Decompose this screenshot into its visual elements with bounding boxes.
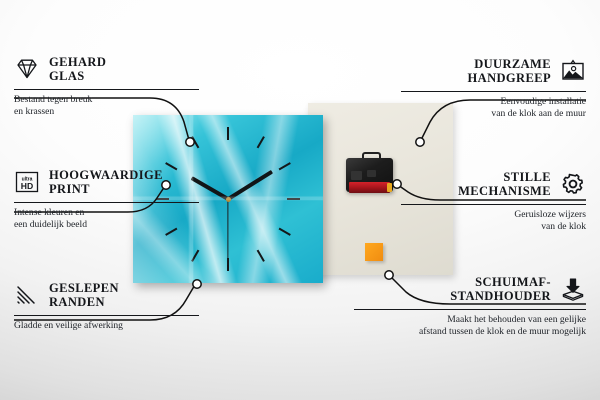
feature-divider (401, 204, 586, 205)
clock-tick (279, 162, 291, 170)
feature-header: STILLE MECHANISME (401, 167, 586, 201)
feature-description: Gladde en veilige afwerking (14, 320, 199, 332)
mechanism-detail (367, 170, 376, 177)
svg-text:HD: HD (21, 181, 33, 191)
feature-description: Eenvoudige installatie van de klok aan d… (401, 96, 586, 119)
clock-tick (279, 228, 291, 236)
clock-center-cap (226, 197, 231, 202)
clock-minute-hand (227, 170, 273, 201)
feature-geslepen-randen: GESLEPEN RANDEN Gladde en veilige afwerk… (14, 278, 199, 332)
feature-description: Intense kleuren en een duidelijk beeld (14, 207, 199, 230)
feature-description: Maakt het behouden van een gelijke afsta… (354, 314, 586, 337)
feature-divider (354, 309, 586, 310)
clock-tick (257, 136, 265, 148)
feature-divider (401, 91, 586, 92)
gear-icon (560, 171, 586, 197)
feature-header: SCHUIMAF- STANDHOUDER (354, 272, 586, 306)
ultra-hd-icon: ultra HD (14, 169, 40, 195)
product-infographic: GEHARD GLAS Bestand tegen breuk en krass… (0, 0, 600, 400)
mechanism-body (346, 158, 393, 192)
feature-title: STILLE MECHANISME (458, 170, 551, 198)
clock-tick (191, 136, 199, 148)
mechanism-detail (351, 171, 362, 180)
feature-divider (14, 202, 199, 203)
clock-tick (191, 250, 199, 262)
beveled-edge-icon (14, 282, 40, 308)
feature-gehard-glas: GEHARD GLAS Bestand tegen breuk en krass… (14, 52, 199, 118)
feature-title: GEHARD GLAS (49, 55, 106, 83)
feature-title: GESLEPEN RANDEN (49, 281, 119, 309)
feature-header: GESLEPEN RANDEN (14, 278, 199, 312)
feature-duurzame-handgreep: DUURZAME HANDGREEP Eenvoudige installati… (401, 54, 586, 120)
press-down-icon (560, 276, 586, 302)
battery (349, 182, 390, 193)
feature-description: Bestand tegen breuk en krassen (14, 94, 199, 117)
feature-stille-mechanisme: STILLE MECHANISME Geruisloze wijzers van… (401, 167, 586, 233)
clock-tick (257, 250, 265, 262)
quartz-mechanism (346, 152, 393, 192)
clock-tick (287, 198, 300, 200)
feature-schuimaf-standhouder: SCHUIMAF- STANDHOUDER Maakt het behouden… (354, 272, 586, 338)
feature-title: SCHUIMAF- STANDHOUDER (450, 275, 551, 303)
clock-tick (227, 127, 229, 140)
feature-divider (14, 315, 199, 316)
feature-hoogwaardige-print: ultra HD HOOGWAARDIGE PRINT Intense kleu… (14, 165, 199, 231)
battery-terminal (387, 183, 392, 192)
feature-description: Geruisloze wijzers van de klok (401, 209, 586, 232)
clock-second-hand (227, 199, 228, 265)
feature-divider (14, 89, 199, 90)
diamond-icon (14, 56, 40, 82)
feature-header: GEHARD GLAS (14, 52, 199, 86)
feature-header: DUURZAME HANDGREEP (401, 54, 586, 88)
feature-header: ultra HD HOOGWAARDIGE PRINT (14, 165, 199, 199)
feature-title: HOOGWAARDIGE PRINT (49, 168, 163, 196)
picture-frame-icon (560, 58, 586, 84)
feature-title: DUURZAME HANDGREEP (468, 57, 551, 85)
foam-spacer-pad (365, 243, 383, 261)
